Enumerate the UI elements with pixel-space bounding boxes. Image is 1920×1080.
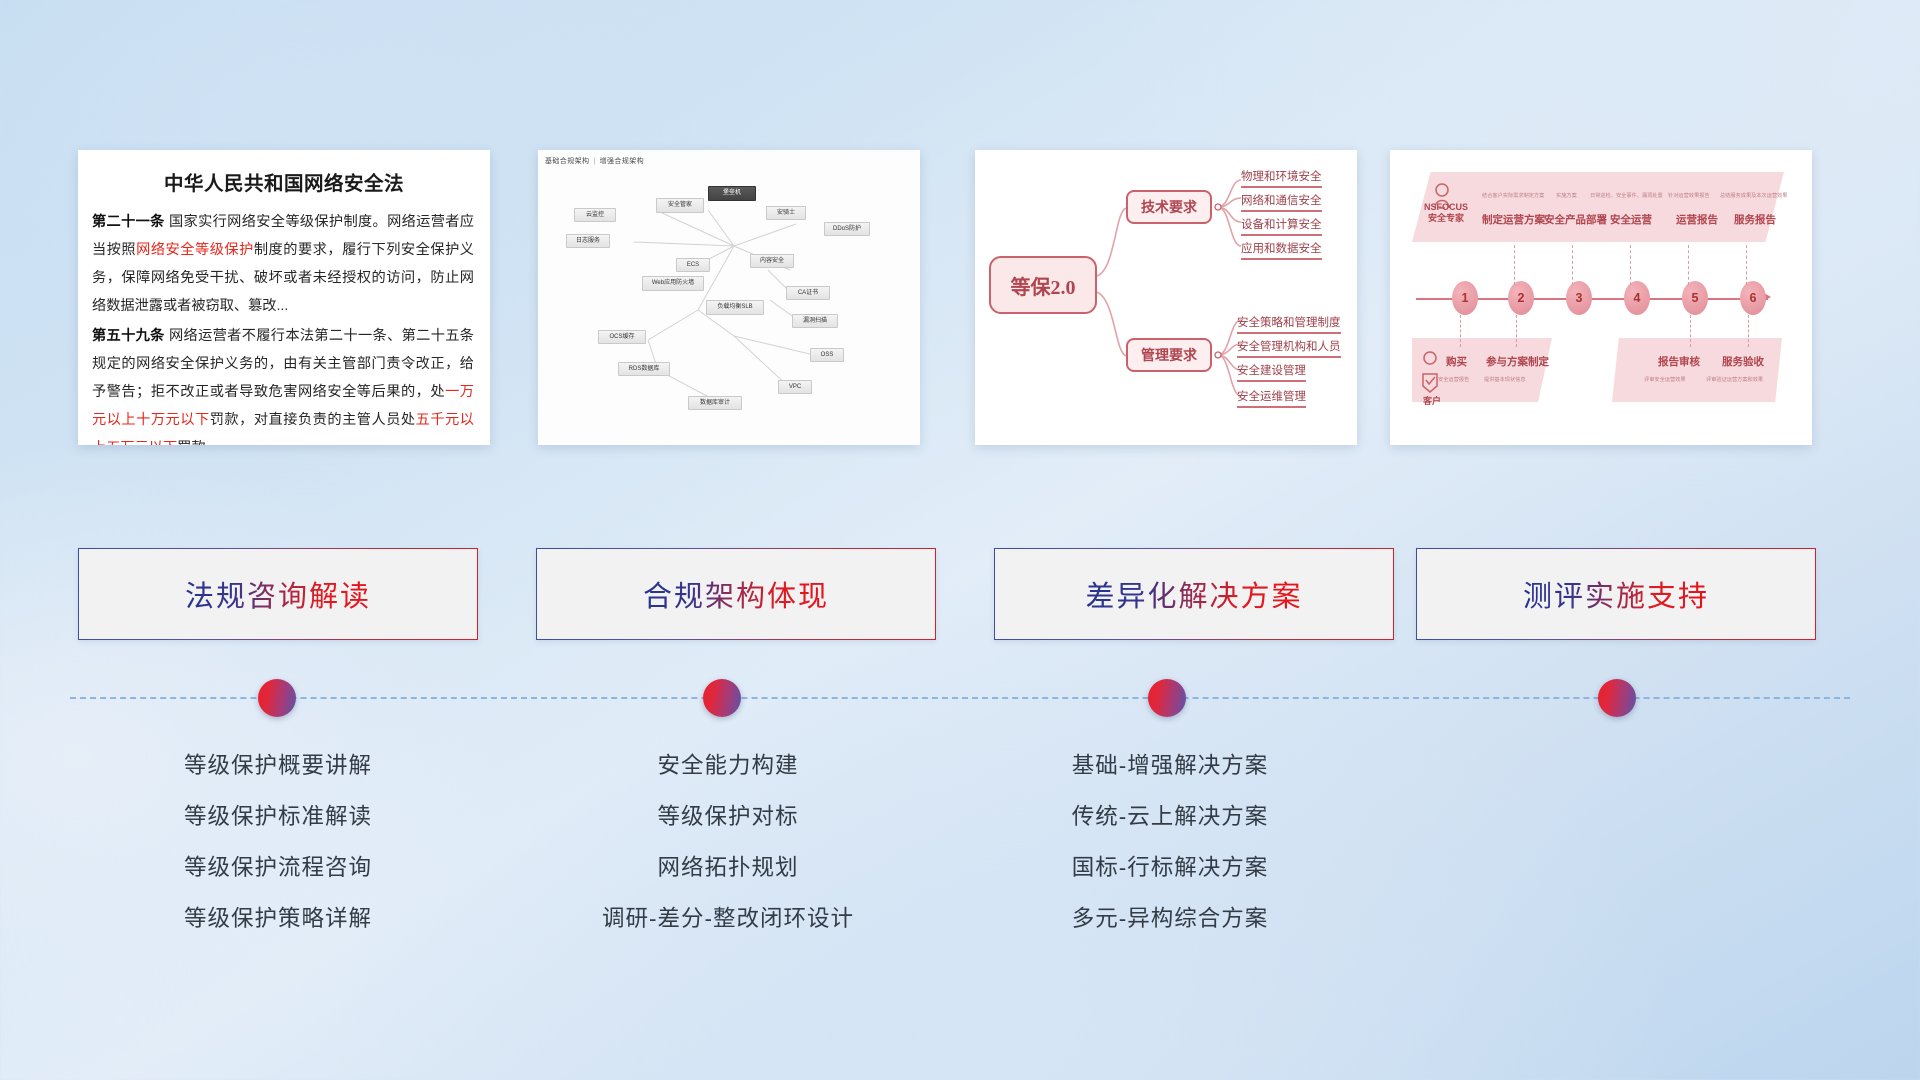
list-item: 多元-异构综合方案 — [950, 893, 1390, 944]
process-step-title: 安全产品部署 — [1544, 212, 1607, 227]
law-run: 罚款。 — [177, 440, 220, 445]
process-connector — [1514, 245, 1515, 285]
process-step-marker: 3 — [1566, 281, 1592, 315]
arch-node-db-audit: 数据库审计 — [688, 396, 742, 410]
process-connector — [1460, 315, 1461, 347]
process-connector — [1630, 245, 1631, 285]
arch-node-content-security: 内容安全 — [750, 254, 794, 268]
mindmap-leaf: 安全管理机构和人员 — [1237, 338, 1341, 358]
mindmap-leaf: 设备和计算安全 — [1241, 216, 1322, 236]
process-bottom-sub: 安全运营报告 — [1438, 376, 1469, 383]
process-step-marker: 2 — [1508, 281, 1534, 315]
arch-node-log-service: 日志服务 — [566, 234, 610, 248]
arch-node-bastion: 堡垒机 — [708, 186, 756, 201]
list-item: 国标-行标解决方案 — [950, 842, 1390, 893]
arch-node-slb: 负载均衡SLB — [706, 300, 764, 315]
arch-node-waf: Web应用防火墙 — [642, 276, 704, 291]
process-bottom-title: 购买 — [1446, 354, 1467, 369]
mindmap-root-node: 等保2.0 — [989, 256, 1097, 314]
process-step-sub: 针对运营效果报告 — [1668, 192, 1710, 199]
process-connector — [1748, 315, 1749, 347]
process-bottom-sub: 提供基本现状信息 — [1484, 376, 1526, 383]
timeline-dot-2[interactable] — [703, 679, 741, 717]
list-item: 传统-云上解决方案 — [950, 791, 1390, 842]
law-paragraph: 第二十一条 国家实行网络安全等级保护制度。网络运营者应当按照网络安全等级保护制度… — [92, 208, 474, 320]
process-bottom-title: 报告审核 — [1658, 354, 1700, 369]
process-bottom-title: 服务验收 — [1722, 354, 1764, 369]
arch-node-host-guard: 安骑士 — [766, 206, 806, 220]
list-item: 调研-差分-整改闭环设计 — [508, 893, 948, 944]
section-header-legal-consulting[interactable]: 法规咨询解读 — [78, 548, 478, 640]
law-paragraph: 第五十九条 网络运营者不履行本法第二十一条、第二十五条规定的网络安全保护义务的，… — [92, 322, 474, 445]
mindmap-leaf: 物理和环境安全 — [1241, 168, 1322, 188]
card-dengbao-mindmap: 等保2.0 技术要求 管理要求 物理和环境安全 网络和通信安全 设备和计算安全 … — [975, 150, 1357, 445]
process-step-marker: 4 — [1624, 281, 1650, 315]
arch-node-vpc: VPC — [778, 380, 812, 394]
process-step-sub: 日常巡检、安全事件、漏洞处置 — [1590, 192, 1663, 199]
process-bottom-sub: 评审验证运营方案和效果 — [1706, 376, 1763, 383]
process-bottom-sub: 评审安全运营效果 — [1644, 376, 1686, 383]
process-connector — [1572, 245, 1573, 285]
process-step-title: 服务报告 — [1734, 212, 1776, 227]
law-run-highlight: 网络安全等级保护 — [136, 242, 254, 258]
mindmap: 等保2.0 技术要求 管理要求 物理和环境安全 网络和通信安全 设备和计算安全 … — [975, 150, 1357, 445]
list-item: 等级保护策略详解 — [58, 893, 498, 944]
section-items-differentiated-solutions: 基础-增强解决方案 传统-云上解决方案 国标-行标解决方案 多元-异构综合方案 — [950, 740, 1390, 944]
process-customer-label: 客户 — [1410, 396, 1454, 407]
card-nsfocus-process: NSFOCUS 安全专家 客户 1 2 3 4 5 6 — [1390, 150, 1812, 445]
list-item: 等级保护流程咨询 — [58, 842, 498, 893]
arch-node-ocs-cache: OCS缓存 — [598, 330, 646, 344]
law-article-number: 第五十九条 — [92, 328, 165, 344]
process-step-title: 制定运营方案 — [1482, 212, 1545, 227]
section-header-label: 合规架构体现 — [643, 573, 829, 615]
mindmap-leaf: 安全策略和管理制度 — [1237, 314, 1341, 334]
law-body: 第二十一条 国家实行网络安全等级保护制度。网络运营者应当按照网络安全等级保护制度… — [92, 208, 474, 445]
slide-canvas: 中华人民共和国网络安全法 第二十一条 国家实行网络安全等级保护制度。网络运营者应… — [0, 0, 1920, 1080]
process-expert-brand: NSFOCUS — [1416, 202, 1476, 213]
list-item: 基础-增强解决方案 — [950, 740, 1390, 791]
timeline-dashed-line — [70, 697, 1850, 699]
process-bottom-title: 参与方案制定 — [1486, 354, 1549, 369]
arch-header-right: 增强合规架构 — [600, 158, 644, 165]
section-headers-row: 法规咨询解读 合规架构体现 差异化解决方案 测评实施支持 — [0, 548, 1920, 640]
timeline-dot-4[interactable] — [1598, 679, 1636, 717]
mindmap-leaf: 应用和数据安全 — [1241, 240, 1322, 260]
mindmap-leaf: 安全运维管理 — [1237, 388, 1306, 408]
process-connector — [1516, 315, 1517, 347]
process-step-sub: 总结服务成果及本次运营效果 — [1720, 192, 1787, 199]
section-header-label: 测评实施支持 — [1523, 573, 1709, 615]
mindmap-branch-technical: 技术要求 — [1126, 190, 1212, 224]
section-items-compliance-architecture: 安全能力构建 等级保护对标 网络拓扑规划 调研-差分-整改闭环设计 — [508, 740, 948, 944]
list-item: 网络拓扑规划 — [508, 842, 948, 893]
arch-node-ca-cert: CA证书 — [786, 286, 830, 300]
process-step-marker: 1 — [1452, 281, 1478, 315]
mindmap-branch-management: 管理要求 — [1126, 338, 1212, 372]
process-expert-role: 安全专家 — [1416, 213, 1476, 224]
process-step-marker: 5 — [1682, 281, 1708, 315]
law-run: 罚款，对直接负责的主管人员处 — [210, 412, 416, 428]
architecture-diagram: 基础合规架构|增强合规架构 堡垒机 安全管家 云监控 日志服务 安骑士 DD — [538, 150, 920, 445]
process-step-sub: 结合客户实际需求制定方案 — [1482, 192, 1544, 199]
section-header-label: 法规咨询解读 — [185, 573, 371, 615]
mindmap-leaf: 安全建设管理 — [1237, 362, 1306, 382]
section-header-assessment-support[interactable]: 测评实施支持 — [1416, 548, 1816, 640]
card-cybersecurity-law: 中华人民共和国网络安全法 第二十一条 国家实行网络安全等级保护制度。网络运营者应… — [78, 150, 490, 445]
arch-node-rds: RDS数据库 — [618, 362, 670, 376]
arch-node-oss: OSS — [810, 348, 844, 362]
section-items-row: 等级保护概要讲解 等级保护标准解读 等级保护流程咨询 等级保护策略详解 安全能力… — [0, 740, 1920, 980]
law-title: 中华人民共和国网络安全法 — [78, 167, 490, 196]
timeline-dot-1[interactable] — [258, 679, 296, 717]
arch-node-vuln-scan: 漏洞扫描 — [792, 314, 838, 328]
process-step-title: 运营报告 — [1676, 212, 1718, 227]
arch-node-cloud-monitor: 云监控 — [574, 208, 616, 222]
process-expert-label: NSFOCUS 安全专家 — [1416, 202, 1476, 224]
process-step-marker: 6 — [1740, 281, 1766, 315]
architecture-diagram-header: 基础合规架构|增强合规架构 — [545, 156, 644, 166]
list-item: 安全能力构建 — [508, 740, 948, 791]
section-header-differentiated-solutions[interactable]: 差异化解决方案 — [994, 548, 1394, 640]
process-connector — [1688, 245, 1689, 285]
process-step-sub: 实施方案 — [1556, 192, 1577, 199]
arch-node-ecs: ECS — [676, 258, 710, 272]
process-timeline-diagram: NSFOCUS 安全专家 客户 1 2 3 4 5 6 — [1390, 150, 1812, 445]
illustration-cards-row: 中华人民共和国网络安全法 第二十一条 国家实行网络安全等级保护制度。网络运营者应… — [0, 150, 1920, 445]
mindmap-leaf: 网络和通信安全 — [1241, 192, 1322, 212]
section-header-compliance-architecture[interactable]: 合规架构体现 — [536, 548, 936, 640]
section-items-legal-consulting: 等级保护概要讲解 等级保护标准解读 等级保护流程咨询 等级保护策略详解 — [58, 740, 498, 944]
law-article-number: 第二十一条 — [92, 214, 165, 230]
section-header-label: 差异化解决方案 — [1085, 573, 1302, 615]
list-item: 等级保护概要讲解 — [58, 740, 498, 791]
list-item: 等级保护对标 — [508, 791, 948, 842]
timeline-dot-3[interactable] — [1148, 679, 1186, 717]
process-step-title: 安全运营 — [1610, 212, 1652, 227]
card-compliance-architecture: 基础合规架构|增强合规架构 堡垒机 安全管家 云监控 日志服务 安骑士 DD — [538, 150, 920, 445]
list-item: 等级保护标准解读 — [58, 791, 498, 842]
arch-node-anti-ddos: DDoS防护 — [824, 222, 870, 236]
arch-header-left: 基础合规架构 — [545, 158, 589, 165]
process-connector — [1746, 245, 1747, 285]
process-connector — [1690, 315, 1691, 347]
arch-node-security-manager: 安全管家 — [656, 198, 704, 213]
